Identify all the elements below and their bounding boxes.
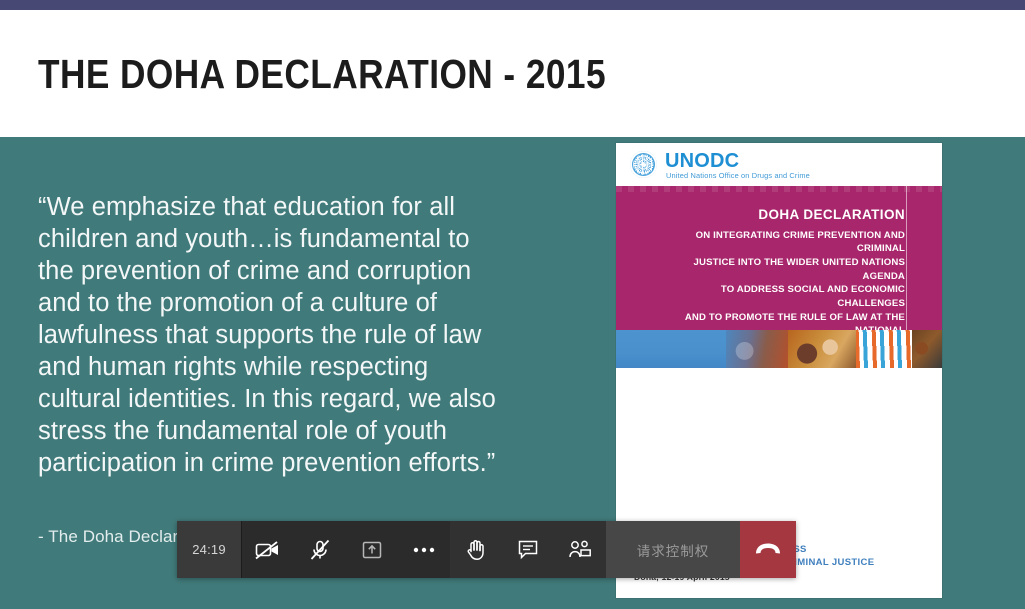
slide-title-band: THE DOHA DECLARATION - 2015 bbox=[0, 10, 1025, 137]
chat-button[interactable] bbox=[502, 521, 554, 578]
unodc-org-subtitle: United Nations Office on Drugs and Crime bbox=[666, 172, 810, 179]
page-title: THE DOHA DECLARATION - 2015 bbox=[38, 54, 606, 95]
photo-blue-panel bbox=[616, 330, 726, 368]
request-control-button[interactable]: 请求控制权 bbox=[606, 521, 740, 578]
photo-gavel-handcuffs bbox=[912, 330, 942, 368]
photo-crowd bbox=[726, 330, 788, 368]
raise-hand-button[interactable] bbox=[450, 521, 502, 578]
meeting-timer: 24:19 bbox=[177, 521, 242, 578]
document-header: UNODC United Nations Office on Drugs and… bbox=[616, 143, 942, 186]
document-subtitle-line: TO ADDRESS SOCIAL AND ECONOMIC CHALLENGE… bbox=[655, 283, 905, 310]
document-title: DOHA DECLARATION bbox=[655, 207, 905, 224]
meeting-media-controls bbox=[242, 521, 450, 578]
meeting-engagement-controls bbox=[450, 521, 606, 578]
document-subtitle-line: ON INTEGRATING CRIME PREVENTION AND CRIM… bbox=[655, 229, 905, 256]
photo-clothespins bbox=[856, 330, 912, 368]
participants-button[interactable] bbox=[554, 521, 606, 578]
panel-divider-line bbox=[906, 186, 907, 330]
quote-text: “We emphasize that education for all chi… bbox=[38, 191, 508, 479]
photo-classroom bbox=[788, 330, 856, 368]
mic-off-button[interactable] bbox=[294, 521, 346, 578]
panel-dot-texture bbox=[616, 186, 942, 192]
presentation-screenshare-stage: THE DOHA DECLARATION - 2015 “We emphasiz… bbox=[0, 0, 1025, 609]
camera-off-button[interactable] bbox=[242, 521, 294, 578]
document-title-panel: DOHA DECLARATION ON INTEGRATING CRIME PR… bbox=[616, 186, 942, 330]
document-photo-strip bbox=[616, 330, 942, 368]
document-subtitle-line: JUSTICE INTO THE WIDER UNITED NATIONS AG… bbox=[655, 256, 905, 283]
unodc-wordmark: UNODC bbox=[665, 151, 739, 171]
more-options-button[interactable] bbox=[398, 521, 450, 578]
share-screen-button[interactable] bbox=[346, 521, 398, 578]
slide-accent-bar bbox=[0, 0, 1025, 10]
hang-up-button[interactable] bbox=[740, 521, 796, 578]
un-emblem-icon bbox=[630, 151, 657, 178]
meeting-control-bar: 24:19 bbox=[177, 521, 796, 578]
